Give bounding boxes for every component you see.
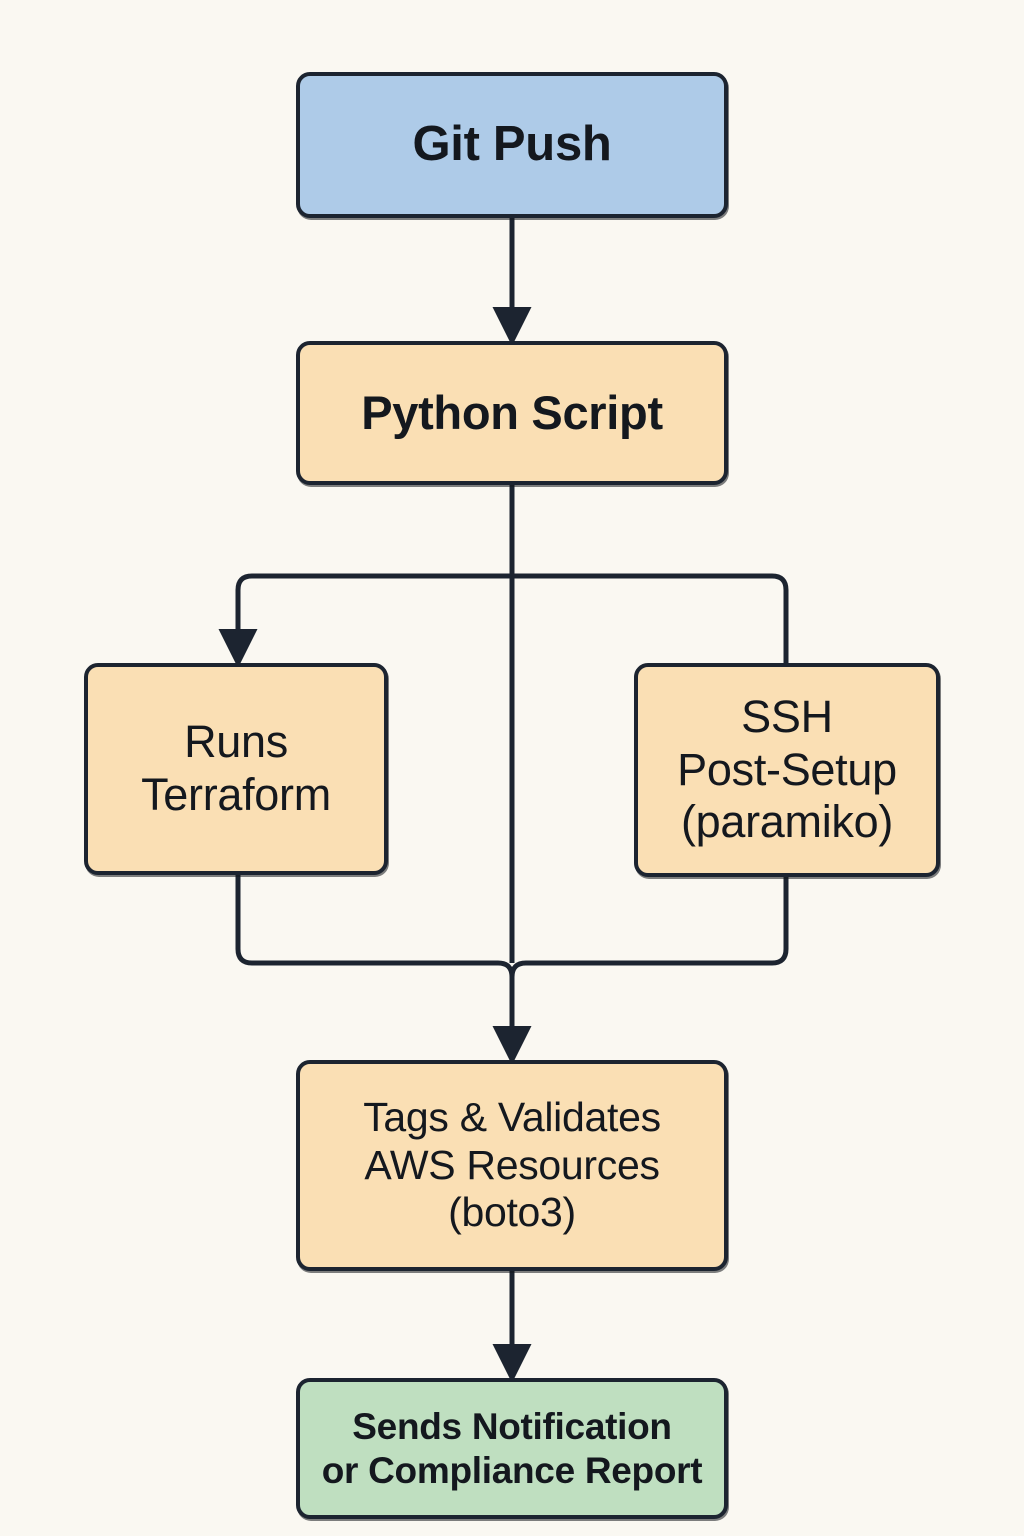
node-sends-notification[interactable]: Sends Notification or Compliance Report bbox=[296, 1378, 728, 1519]
node-ssh-post-setup[interactable]: SSH Post-Setup (paramiko) bbox=[634, 663, 940, 877]
node-sends-notification-label: Sends Notification or Compliance Report bbox=[322, 1405, 703, 1492]
node-python-script-label: Python Script bbox=[361, 386, 663, 441]
node-python-script[interactable]: Python Script bbox=[296, 341, 728, 485]
node-runs-terraform[interactable]: Runs Terraform bbox=[84, 663, 388, 875]
node-git-push-label: Git Push bbox=[412, 116, 611, 173]
flowchart-canvas: Git Push Python Script Runs Terraform SS… bbox=[0, 0, 1024, 1536]
node-tags-validates-label: Tags & Validates AWS Resources (boto3) bbox=[363, 1094, 661, 1238]
node-ssh-post-setup-label: SSH Post-Setup (paramiko) bbox=[677, 691, 897, 849]
edge-python-script-to-runs-terraform bbox=[238, 576, 512, 648]
edge-runs-terraform-to-tags-validates bbox=[238, 875, 512, 1045]
edge-python-script-to-ssh-post-setup bbox=[512, 576, 786, 663]
edge-ssh-post-setup-to-tags-validates bbox=[512, 877, 786, 1000]
node-tags-validates[interactable]: Tags & Validates AWS Resources (boto3) bbox=[296, 1060, 728, 1271]
node-git-push[interactable]: Git Push bbox=[296, 72, 728, 218]
node-runs-terraform-label: Runs Terraform bbox=[141, 716, 331, 821]
